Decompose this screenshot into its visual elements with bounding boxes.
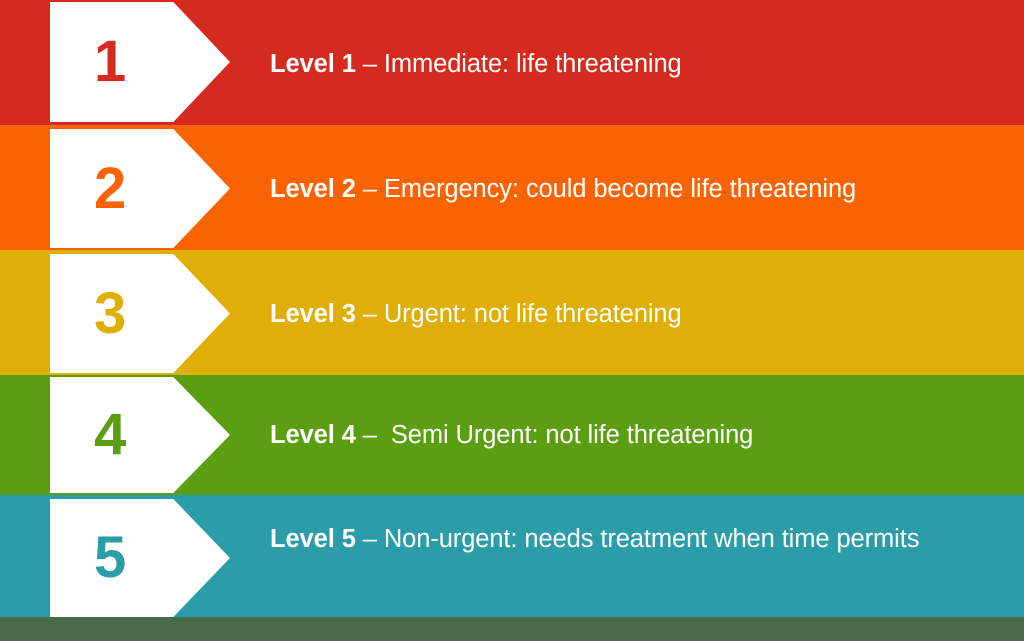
- level-detail-3: Urgent: not life threatening: [384, 300, 682, 328]
- level-description-2: Level 2 – Emergency: could become life t…: [270, 173, 994, 207]
- level-separator-5: –: [356, 525, 384, 553]
- chevron-number-1: 1: [94, 33, 126, 91]
- level-band-1: 1Level 1 – Immediate: life threatening: [0, 0, 1024, 125]
- chevron-number-3: 3: [94, 285, 126, 343]
- chevron-number-4: 4: [94, 406, 126, 464]
- chevron-number-2: 2: [94, 160, 126, 218]
- chevron-number-5: 5: [94, 529, 126, 587]
- triage-levels-graphic: 1Level 1 – Immediate: life threatening2L…: [0, 0, 1024, 641]
- level-label-4: Level 4: [270, 421, 356, 449]
- level-separator-2: –: [356, 175, 384, 203]
- level-separator-3: –: [356, 300, 384, 328]
- level-description-3: Level 3 – Urgent: not life threatening: [270, 298, 994, 332]
- level-separator-1: –: [356, 50, 384, 78]
- chevron-badge-5: 5: [50, 499, 230, 617]
- level-description-5: Level 5 – Non-urgent: needs treatment wh…: [270, 523, 994, 557]
- chevron-badge-3: 3: [50, 254, 230, 373]
- level-label-2: Level 2: [270, 175, 356, 203]
- level-description-1: Level 1 – Immediate: life threatening: [270, 48, 994, 82]
- level-description-4: Level 4 – Semi Urgent: not life threaten…: [270, 419, 994, 453]
- level-detail-1: Immediate: life threatening: [384, 50, 682, 78]
- level-band-3: 3Level 3 – Urgent: not life threatening: [0, 250, 1024, 375]
- level-band-2: 2Level 2 – Emergency: could become life …: [0, 125, 1024, 250]
- level-band-4: 4Level 4 – Semi Urgent: not life threate…: [0, 375, 1024, 495]
- level-detail-2: Emergency: could become life threatening: [384, 175, 856, 203]
- chevron-badge-2: 2: [50, 129, 230, 248]
- level-label-1: Level 1: [270, 50, 356, 78]
- level-label-5: Level 5: [270, 525, 356, 553]
- chevron-badge-1: 1: [50, 2, 230, 122]
- level-label-3: Level 3: [270, 300, 356, 328]
- level-band-5: 5Level 5 – Non-urgent: needs treatment w…: [0, 495, 1024, 617]
- level-separator-4: –: [356, 421, 391, 449]
- level-detail-4: Semi Urgent: not life threatening: [391, 421, 753, 449]
- chevron-badge-4: 4: [50, 377, 230, 493]
- level-detail-5: Non-urgent: needs treatment when time pe…: [384, 525, 920, 553]
- footer-bar: [0, 617, 1024, 641]
